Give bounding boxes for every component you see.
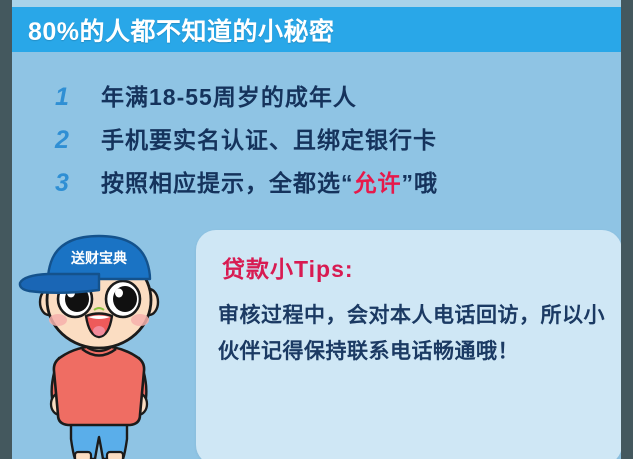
frame-border-right <box>621 0 633 459</box>
list-item-number: 3 <box>55 169 101 198</box>
list-item-highlight: 允许 <box>354 170 402 196</box>
frame-border-left <box>0 0 12 459</box>
banner-title: 80%的人都不知道的小秘密 <box>28 12 335 48</box>
poster-canvas: 80%的人都不知道的小秘密 1 年满18-55周岁的成年人 2 手机要实名认证、… <box>0 0 633 459</box>
mascot-cap-text: 送财宝典 <box>70 250 127 266</box>
list-item-text-pre: 按照相应提示，全都选“ <box>101 170 354 196</box>
list-item-text-post: ”哦 <box>402 170 439 196</box>
header-banner: 80%的人都不知道的小秘密 <box>0 7 633 52</box>
list-item-text: 年满18-55周岁的成年人 <box>101 78 357 112</box>
list-item: 2 手机要实名认证、且绑定银行卡 <box>55 121 438 164</box>
mascot-character: 送财宝典 <box>14 228 184 459</box>
list-item: 1 年满18-55周岁的成年人 <box>55 78 438 121</box>
list-item-number: 1 <box>55 83 101 112</box>
mascot-shirt <box>54 346 144 425</box>
requirements-list: 1 年满18-55周岁的成年人 2 手机要实名认证、且绑定银行卡 3 按照相应提… <box>55 78 438 207</box>
tips-card-body: 审核过程中，会对本人电话回访，所以小伙伴记得保持联系电话畅通哦！ <box>218 298 608 370</box>
list-item: 3 按照相应提示，全都选“允许”哦 <box>55 164 438 207</box>
list-item-text: 手机要实名认证、且绑定银行卡 <box>101 121 437 155</box>
list-item-text: 按照相应提示，全都选“允许”哦 <box>101 164 438 198</box>
tips-card-title: 贷款小Tips: <box>222 250 354 284</box>
tips-card: 贷款小Tips: 审核过程中，会对本人电话回访，所以小伙伴记得保持联系电话畅通哦… <box>196 230 622 459</box>
list-item-number: 2 <box>55 126 101 155</box>
top-accent-strip <box>0 0 633 7</box>
